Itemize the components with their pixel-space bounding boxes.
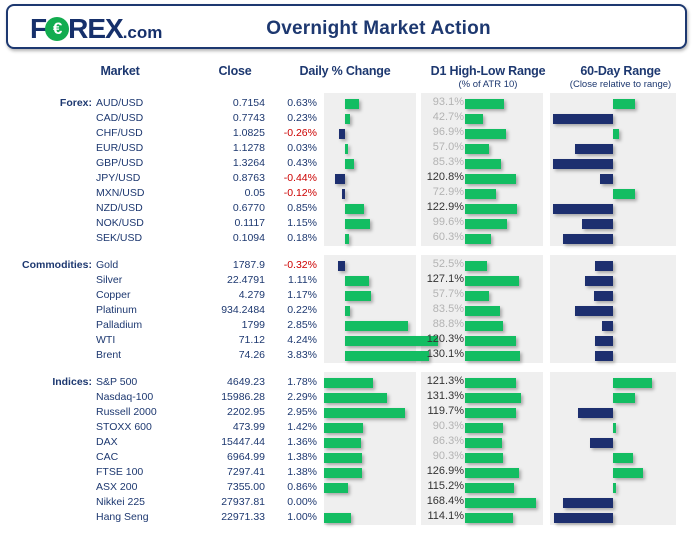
d1-range-bar <box>465 438 502 448</box>
d1-range-bar <box>465 378 516 388</box>
daily-change-value: 1.00% <box>257 511 317 523</box>
daily-change-value: 2.85% <box>257 319 317 331</box>
sixty-day-range-bar <box>600 174 613 184</box>
d1-range-bar <box>465 189 496 199</box>
d1-range-label: 52.5% <box>416 258 464 270</box>
close-value: 0.6770 <box>160 202 265 214</box>
daily-change-value: 0.03% <box>257 142 317 154</box>
market-name: GBP/USD <box>96 157 143 169</box>
overnight-market-action-page: F€REX.com Overnight Market Action Market… <box>0 0 693 537</box>
d1-range-bar <box>465 204 517 214</box>
close-value: 15986.28 <box>160 391 265 403</box>
daily-change-bar <box>324 513 351 523</box>
market-name: NZD/USD <box>96 202 143 214</box>
sixty-day-range-bar <box>563 234 613 244</box>
market-name: Hang Seng <box>96 511 149 523</box>
d1-range-bar <box>465 351 520 361</box>
column-header-daily-change: Daily % Change <box>265 64 425 78</box>
market-name: Nikkei 225 <box>96 496 145 508</box>
group-label-forex: Forex: <box>0 97 92 109</box>
close-value: 1.0825 <box>160 127 265 139</box>
market-name: Russell 2000 <box>96 406 157 418</box>
close-value: 0.7154 <box>160 97 265 109</box>
close-value: 1799 <box>160 319 265 331</box>
market-name: CHF/USD <box>96 127 143 139</box>
group-label-commodities: Commodities: <box>0 259 92 271</box>
title-bar: F€REX.com Overnight Market Action <box>6 4 687 49</box>
d1-range-bar <box>465 261 487 271</box>
column-header-d1-range: D1 High-Low Range <box>418 64 558 78</box>
d1-range-bar <box>465 234 491 244</box>
close-value: 0.1094 <box>160 232 265 244</box>
close-value: 4649.23 <box>160 376 265 388</box>
sixty-day-range-bar <box>595 336 613 346</box>
d1-range-bar <box>465 423 503 433</box>
daily-change-value: 1.17% <box>257 289 317 301</box>
d1-range-label: 83.5% <box>416 303 464 315</box>
sixty-day-range-bar <box>553 114 613 124</box>
d1-range-bar <box>465 291 489 301</box>
d1-range-bar <box>465 498 536 508</box>
close-value: 0.05 <box>160 187 265 199</box>
sixty-day-range-bar <box>553 159 613 169</box>
market-name: CAC <box>96 451 118 463</box>
daily-change-bar <box>345 291 371 301</box>
d1-range-bar <box>465 306 500 316</box>
d1-range-bar <box>465 159 501 169</box>
d1-range-bar <box>465 321 503 331</box>
daily-change-value: -0.44% <box>257 172 317 184</box>
column-subheader-60day-range: (Close relative to range) <box>548 79 693 90</box>
sixty-day-range-bar <box>578 408 613 418</box>
sixty-day-panel-commodities <box>550 255 676 363</box>
close-value: 1.1278 <box>160 142 265 154</box>
d1-range-bar <box>465 468 519 478</box>
daily-change-bar <box>345 99 359 109</box>
close-value: 473.99 <box>160 421 265 433</box>
daily-change-value: 1.36% <box>257 436 317 448</box>
d1-range-bar <box>465 336 516 346</box>
close-value: 0.8763 <box>160 172 265 184</box>
d1-range-bar <box>465 219 507 229</box>
daily-change-value: 1.78% <box>257 376 317 388</box>
market-name: STOXX 600 <box>96 421 152 433</box>
market-name: CAD/USD <box>96 112 143 124</box>
d1-range-label: 122.9% <box>416 201 464 213</box>
close-value: 4.279 <box>160 289 265 301</box>
d1-range-label: 93.1% <box>416 96 464 108</box>
sixty-day-range-bar <box>575 306 613 316</box>
close-value: 6964.99 <box>160 451 265 463</box>
close-value: 7355.00 <box>160 481 265 493</box>
d1-range-bar <box>465 393 521 403</box>
daily-change-value: 0.00% <box>257 496 317 508</box>
close-value: 934.2484 <box>160 304 265 316</box>
daily-change-value: 0.23% <box>257 112 317 124</box>
daily-change-value: 0.86% <box>257 481 317 493</box>
close-value: 1.3264 <box>160 157 265 169</box>
daily-change-value: 1.11% <box>257 274 317 286</box>
close-value: 0.1117 <box>160 217 265 229</box>
daily-change-bar <box>345 144 348 154</box>
daily-change-bar <box>324 468 362 478</box>
daily-change-bar <box>324 483 348 493</box>
daily-change-value: 0.18% <box>257 232 317 244</box>
market-name: SEK/USD <box>96 232 142 244</box>
d1-range-label: 168.4% <box>416 495 464 507</box>
d1-range-label: 126.9% <box>416 465 464 477</box>
daily-change-value: -0.32% <box>257 259 317 271</box>
sixty-day-range-bar <box>613 378 652 388</box>
daily-change-value: 3.83% <box>257 349 317 361</box>
d1-range-bar <box>465 99 504 109</box>
d1-range-label: 60.3% <box>416 231 464 243</box>
sixty-day-range-bar <box>613 393 635 403</box>
d1-range-bar <box>465 483 514 493</box>
sixty-day-range-bar <box>613 423 616 433</box>
sixty-day-range-bar <box>563 498 613 508</box>
d1-range-label: 99.6% <box>416 216 464 228</box>
close-value: 74.26 <box>160 349 265 361</box>
daily-change-value: -0.12% <box>257 187 317 199</box>
column-subheader-d1-range: (% of ATR 10) <box>418 79 558 90</box>
market-name: ASX 200 <box>96 481 137 493</box>
daily-change-bar <box>324 408 405 418</box>
sixty-day-range-bar <box>613 453 633 463</box>
daily-change-bar <box>335 174 345 184</box>
close-value: 22.4791 <box>160 274 265 286</box>
sixty-day-range-bar <box>595 261 613 271</box>
market-name: JPY/USD <box>96 172 140 184</box>
close-value: 71.12 <box>160 334 265 346</box>
d1-range-label: 121.3% <box>416 375 464 387</box>
daily-change-value: 0.43% <box>257 157 317 169</box>
sixty-day-range-bar <box>575 144 613 154</box>
d1-range-label: 130.1% <box>416 348 464 360</box>
market-name: Copper <box>96 289 130 301</box>
d1-range-label: 57.7% <box>416 288 464 300</box>
d1-range-bar <box>465 114 483 124</box>
daily-change-value: 0.22% <box>257 304 317 316</box>
sixty-day-range-bar <box>613 189 635 199</box>
sixty-day-range-bar <box>613 468 643 478</box>
d1-range-label: 90.3% <box>416 420 464 432</box>
d1-range-label: 72.9% <box>416 186 464 198</box>
close-value: 15447.44 <box>160 436 265 448</box>
column-header-60day-range: 60-Day Range <box>553 64 688 78</box>
sixty-day-range-bar <box>613 483 616 493</box>
daily-change-value: 0.85% <box>257 202 317 214</box>
d1-range-label: 96.9% <box>416 126 464 138</box>
daily-change-bar <box>338 261 345 271</box>
d1-range-bar <box>465 453 503 463</box>
d1-range-bar <box>465 144 489 154</box>
market-name: EUR/USD <box>96 142 143 154</box>
d1-range-bar <box>465 174 516 184</box>
daily-change-value: 2.29% <box>257 391 317 403</box>
market-name: DAX <box>96 436 118 448</box>
sixty-day-range-bar <box>553 204 613 214</box>
sixty-day-range-bar <box>613 129 619 139</box>
daily-change-bar <box>345 219 370 229</box>
daily-change-bar <box>324 438 361 448</box>
column-header-market: Market <box>60 64 180 78</box>
market-name: MXN/USD <box>96 187 144 199</box>
d1-range-label: 85.3% <box>416 156 464 168</box>
daily-change-bar <box>345 234 349 244</box>
market-name: Palladium <box>96 319 142 331</box>
d1-range-label: 88.8% <box>416 318 464 330</box>
daily-change-value: 2.95% <box>257 406 317 418</box>
close-value: 27937.81 <box>160 496 265 508</box>
d1-range-bar <box>465 276 519 286</box>
sixty-day-range-bar <box>602 321 613 331</box>
daily-change-value: 1.42% <box>257 421 317 433</box>
daily-change-value: 1.15% <box>257 217 317 229</box>
d1-range-bar <box>465 129 506 139</box>
close-value: 0.7743 <box>160 112 265 124</box>
daily-change-bar <box>345 159 354 169</box>
close-value: 22971.33 <box>160 511 265 523</box>
market-name: Brent <box>96 349 121 361</box>
daily-change-bar <box>342 189 345 199</box>
daily-change-bar <box>324 393 387 403</box>
daily-change-bar <box>345 204 364 214</box>
daily-change-value: 1.38% <box>257 466 317 478</box>
market-name: S&P 500 <box>96 376 137 388</box>
market-name: Gold <box>96 259 118 271</box>
sixty-day-range-bar <box>582 219 614 229</box>
d1-range-label: 42.7% <box>416 111 464 123</box>
sixty-day-range-bar <box>595 351 613 361</box>
daily-change-panel-commodities <box>324 255 416 363</box>
market-name: Silver <box>96 274 122 286</box>
group-label-indices: Indices: <box>0 376 92 388</box>
daily-change-bar <box>345 276 369 286</box>
d1-range-label: 127.1% <box>416 273 464 285</box>
market-name: FTSE 100 <box>96 466 143 478</box>
close-value: 1787.9 <box>160 259 265 271</box>
market-name: Platinum <box>96 304 137 316</box>
d1-range-label: 114.1% <box>416 510 464 522</box>
d1-range-label: 119.7% <box>416 405 464 417</box>
daily-change-bar <box>345 114 350 124</box>
daily-change-value: 1.38% <box>257 451 317 463</box>
d1-range-label: 120.3% <box>416 333 464 345</box>
d1-range-label: 57.0% <box>416 141 464 153</box>
daily-change-bar <box>324 423 363 433</box>
sixty-day-range-bar <box>590 438 613 448</box>
d1-range-bar <box>465 513 513 523</box>
d1-range-label: 115.2% <box>416 480 464 492</box>
close-value: 2202.95 <box>160 406 265 418</box>
d1-range-label: 90.3% <box>416 450 464 462</box>
daily-change-value: 0.63% <box>257 97 317 109</box>
sixty-day-range-bar <box>554 513 613 523</box>
d1-range-label: 120.8% <box>416 171 464 183</box>
market-name: NOK/USD <box>96 217 144 229</box>
close-value: 7297.41 <box>160 466 265 478</box>
sixty-day-range-bar <box>585 276 613 286</box>
daily-change-bar <box>324 453 362 463</box>
daily-change-bar <box>345 321 408 331</box>
sixty-day-range-bar <box>594 291 613 301</box>
sixty-day-range-bar <box>613 99 635 109</box>
daily-change-value: 4.24% <box>257 334 317 346</box>
d1-range-label: 131.3% <box>416 390 464 402</box>
d1-range-label: 86.3% <box>416 435 464 447</box>
daily-change-value: -0.26% <box>257 127 317 139</box>
daily-change-bar <box>339 129 345 139</box>
d1-range-bar <box>465 408 516 418</box>
market-name: AUD/USD <box>96 97 143 109</box>
market-name: Nasdaq-100 <box>96 391 153 403</box>
daily-change-bar <box>324 378 373 388</box>
page-title: Overnight Market Action <box>8 18 689 40</box>
daily-change-bar <box>345 306 350 316</box>
market-name: WTI <box>96 334 115 346</box>
